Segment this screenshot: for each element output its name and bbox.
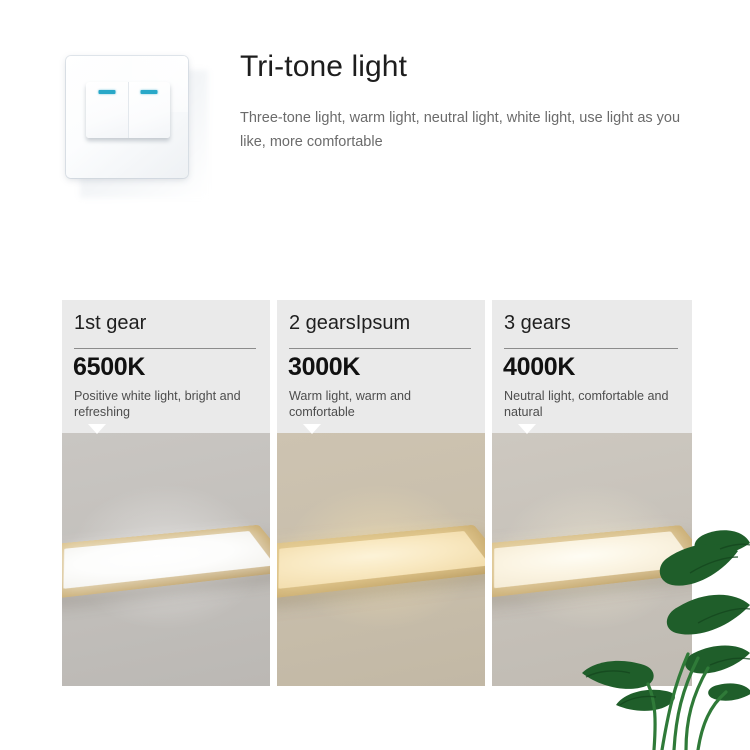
product-infographic: Tri-tone light Three-tone light, warm li… [0, 0, 750, 750]
lamp-gold-frame [62, 525, 270, 600]
gear-card-header: 2 gearsIpsum 3000K Warm light, warm and … [277, 300, 485, 433]
gear-card-header: 3 gears 4000K Neutral light, comfortable… [492, 300, 692, 433]
gear-card-header: 1st gear 6500K Positive white light, bri… [62, 300, 270, 433]
pointer-triangle-icon [303, 424, 321, 434]
gear-card: 1st gear 6500K Positive white light, bri… [62, 300, 270, 686]
lamp-diffuser [278, 531, 485, 589]
kelvin-value: 3000K [288, 353, 360, 382]
divider [289, 348, 471, 349]
lamp-gold-frame [277, 525, 485, 600]
ceiling-lamp [62, 509, 270, 605]
kelvin-value: 6500K [73, 353, 145, 382]
divider [504, 348, 678, 349]
lamp-photo [62, 433, 270, 686]
gear-description: Positive white light, bright and refresh… [74, 388, 262, 420]
pointer-triangle-icon [88, 424, 106, 434]
switch-rocker-left [86, 82, 129, 138]
tropical-plant-icon [570, 515, 750, 750]
page-title: Tri-tone light [240, 50, 407, 84]
switch-plate [66, 56, 188, 178]
gear-description: Warm light, warm and comfortable [289, 388, 477, 420]
led-indicator-icon [141, 90, 158, 94]
led-indicator-icon [98, 90, 115, 94]
kelvin-value: 4000K [503, 353, 575, 382]
ceiling-lamp [277, 509, 485, 605]
lamp-photo [277, 433, 485, 686]
gear-description: Neutral light, comfortable and natural [504, 388, 684, 420]
gear-label: 3 gears [504, 312, 571, 335]
pointer-triangle-icon [518, 424, 536, 434]
gear-label: 1st gear [74, 312, 146, 335]
wall-switch-icon [58, 48, 208, 198]
gear-card: 2 gearsIpsum 3000K Warm light, warm and … [277, 300, 485, 686]
switch-rocker-right [129, 82, 171, 138]
divider [74, 348, 256, 349]
gear-label: 2 gearsIpsum [289, 312, 410, 335]
hero-subtitle: Three-tone light, warm light, neutral li… [240, 106, 690, 154]
hero-section: Tri-tone light Three-tone light, warm li… [0, 0, 750, 280]
lamp-diffuser [63, 531, 270, 589]
switch-rocker-group [86, 82, 170, 138]
